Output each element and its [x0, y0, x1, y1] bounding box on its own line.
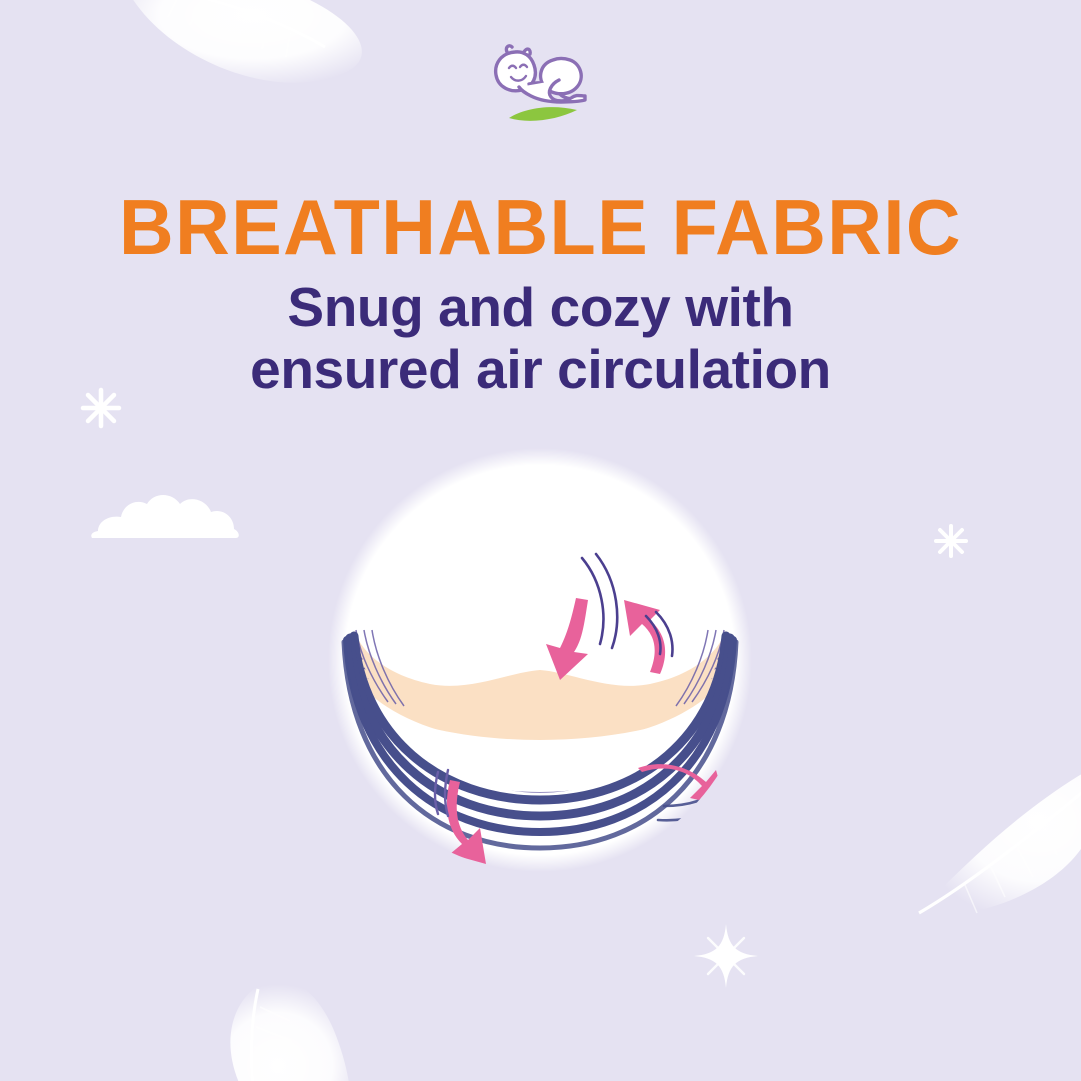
- page-title: BREATHABLE FABRIC: [16, 188, 1065, 266]
- cloud-icon: [88, 486, 240, 542]
- feather-icon: [150, 955, 410, 1081]
- subtitle-line-2: ensured air circulation: [0, 338, 1081, 400]
- sleeping-baby-logo-icon: [485, 40, 597, 124]
- leaf-swoosh-icon: [509, 107, 577, 121]
- sparkle-asterisk-icon: [932, 522, 970, 560]
- breathable-mesh-illustration: [320, 440, 760, 880]
- brand-logo: [0, 40, 1081, 124]
- sparkle-star-icon: [690, 920, 762, 992]
- promo-poster: BREATHABLE FABRIC Snug and cozy with ens…: [0, 0, 1081, 1081]
- page-subtitle: Snug and cozy with ensured air circulati…: [0, 276, 1081, 400]
- illustration-circle-backdrop: [328, 448, 752, 872]
- feather-icon: [905, 745, 1081, 945]
- subtitle-line-1: Snug and cozy with: [0, 276, 1081, 338]
